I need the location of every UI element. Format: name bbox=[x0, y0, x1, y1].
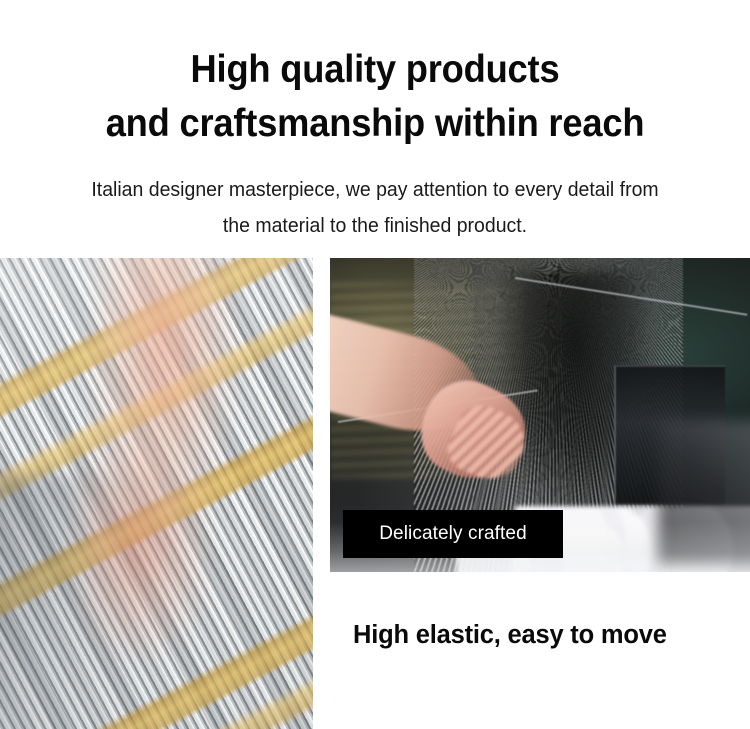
caption-label: Delicately crafted bbox=[379, 510, 527, 558]
subtitle-line-1: Italian designer masterpiece, we pay att… bbox=[19, 150, 732, 208]
subtitle-line-2: the material to the finished product. bbox=[19, 208, 732, 244]
textile-machine-photo: Delicately crafted bbox=[330, 258, 750, 572]
loom-salmon-highlight-lower bbox=[81, 437, 206, 654]
headline-line-2: and craftsmanship within reach bbox=[26, 96, 724, 150]
footer-tagline: High elastic, easy to move bbox=[353, 618, 733, 652]
promo-banner: High quality products and craftsmanship … bbox=[0, 0, 750, 729]
headline-line-1: High quality products bbox=[26, 0, 724, 96]
loom-threads-photo bbox=[0, 258, 313, 729]
header-text-block: High quality products and craftsmanship … bbox=[0, 0, 750, 258]
image-panels: Delicately crafted bbox=[0, 258, 750, 729]
caption-bar: Delicately crafted bbox=[343, 510, 563, 558]
